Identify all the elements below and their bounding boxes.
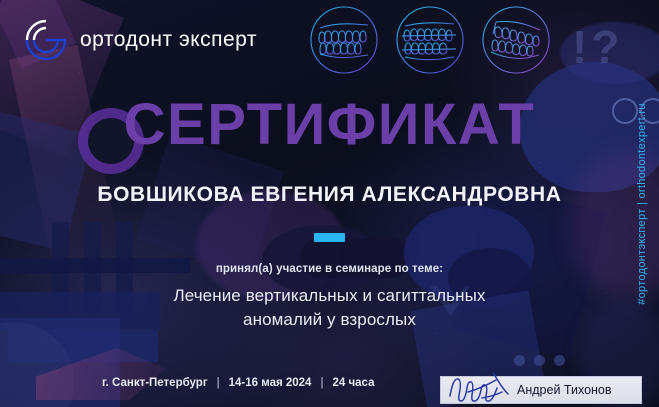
side-branding: #ортодонтэксперт | orthodontexpert.ru xyxy=(629,0,655,407)
signatory-name: Андрей Тихонов xyxy=(517,383,612,397)
recipient-name: БОВШИКОВА ЕВГЕНИЯ АЛЕКСАНДРОВНА xyxy=(0,183,659,207)
meta-separator: | xyxy=(217,377,220,389)
accent-divider xyxy=(314,233,345,242)
seminar-topic: Лечение вертикальных и сагиттальных аном… xyxy=(0,284,659,332)
certificate-title: СЕРТИФИКАТ xyxy=(0,96,659,154)
meta-separator: | xyxy=(320,377,323,389)
brand-name: ортодонт эксперт xyxy=(80,28,257,52)
seminar-topic-line1: Лечение вертикальных и сагиттальных xyxy=(0,284,659,308)
signature-bar: Андрей Тихонов xyxy=(440,376,642,404)
event-dates: 14-16 мая 2024 xyxy=(229,377,312,389)
side-branding-text: #ортодонтэксперт | orthodontexpert.ru xyxy=(636,103,648,305)
brand-logo: ортодонт эксперт xyxy=(22,16,257,64)
footer-meta: г. Санкт-Петербург | 14-16 мая 2024 | 24… xyxy=(102,377,374,389)
certificate-header: ортодонт эксперт xyxy=(0,0,659,78)
orthodontic-icon-row xyxy=(306,2,554,83)
teeth-openbite-icon xyxy=(478,2,554,83)
teeth-braces-icon xyxy=(392,2,468,83)
participation-subtitle: принял(а) участие в семинаре по теме: xyxy=(0,263,659,275)
orthodont-ring-logo-icon xyxy=(22,16,70,64)
certificate-canvas: !? ортодонт эксперт xyxy=(0,0,659,407)
event-hours: 24 часа xyxy=(332,377,374,389)
seminar-topic-line2: аномалий у взрослых xyxy=(0,308,659,332)
event-city: г. Санкт-Петербург xyxy=(102,377,208,389)
teeth-overbite-icon xyxy=(306,2,382,83)
